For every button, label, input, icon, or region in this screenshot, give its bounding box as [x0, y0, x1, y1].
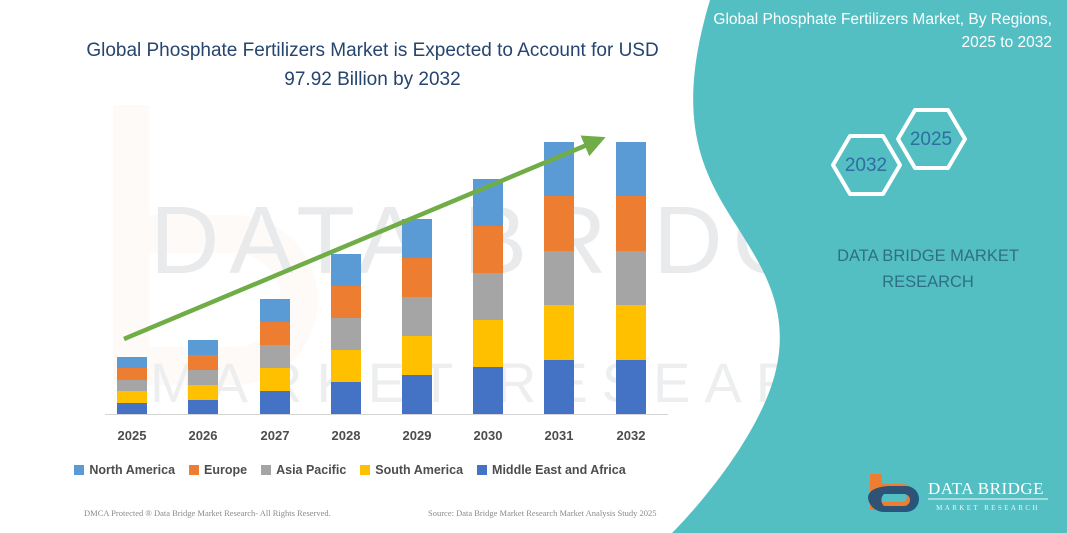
x-axis-labels: 20252026202720282029203020312032 — [0, 428, 700, 448]
legend-item[interactable]: South America — [360, 463, 463, 477]
bar-segment — [473, 226, 503, 273]
logo-tagline: MARKET RESEARCH — [936, 504, 1040, 512]
legend-label: Europe — [204, 463, 247, 477]
bar-segment — [117, 357, 147, 368]
panel-title: Global Phosphate Fertilizers Market, By … — [706, 8, 1052, 54]
x-axis-label: 2025 — [118, 428, 147, 443]
bar-segment — [331, 382, 361, 414]
bar-segment — [473, 367, 503, 414]
legend-item[interactable]: Europe — [189, 463, 247, 477]
panel-brand-text: DATA BRIDGE MARKET RESEARCH — [790, 243, 1066, 295]
hexagon-2025-label: 2025 — [910, 129, 952, 150]
bar-segment — [188, 385, 218, 400]
bar-segment — [402, 258, 432, 297]
bar-segment — [260, 345, 290, 368]
bar-segment — [544, 360, 574, 414]
bar-segment — [117, 391, 147, 403]
legend-swatch — [477, 465, 487, 475]
bar-segment — [260, 368, 290, 391]
bar-segment — [188, 340, 218, 355]
footer-source: Source: Data Bridge Market Research Mark… — [428, 508, 657, 518]
x-axis-label: 2029 — [403, 428, 432, 443]
bar-segment — [402, 375, 432, 414]
legend-label: South America — [375, 463, 463, 477]
bar-segment — [544, 196, 574, 251]
legend-swatch — [74, 465, 84, 475]
legend-item[interactable]: Middle East and Africa — [477, 463, 626, 477]
bar-segment — [544, 251, 574, 305]
bar-segment — [188, 355, 218, 370]
legend-label: North America — [89, 463, 175, 477]
bar-segment — [260, 322, 290, 345]
bar-segment — [188, 400, 218, 414]
logo-wordmark: DATA BRIDGE — [928, 479, 1044, 498]
bar-segment — [331, 254, 361, 286]
bar-segment — [402, 219, 432, 258]
panel-brand-line-2: RESEARCH — [790, 269, 1066, 295]
bar-segment — [544, 305, 574, 360]
legend-label: Middle East and Africa — [492, 463, 626, 477]
x-axis-label: 2031 — [545, 428, 574, 443]
legend-swatch — [189, 465, 199, 475]
bar-segment — [402, 336, 432, 375]
x-axis-label: 2026 — [189, 428, 218, 443]
bar-segment — [117, 403, 147, 414]
x-axis-label: 2028 — [332, 428, 361, 443]
bars-group — [117, 142, 646, 414]
infographic-canvas: DATA BRIDGE MARKET RESEARCH Global Phosp… — [0, 0, 1067, 533]
bar-chart-plot — [0, 0, 700, 470]
bar-segment — [260, 299, 290, 322]
bar-segment — [117, 380, 147, 391]
panel-brand-line-1: DATA BRIDGE MARKET — [790, 243, 1066, 269]
legend-swatch — [360, 465, 370, 475]
legend-label: Asia Pacific — [276, 463, 346, 477]
data-bridge-logo: DATA BRIDGE MARKET RESEARCH — [862, 470, 1052, 518]
bar-segment — [473, 320, 503, 367]
year-hexagons: 2025 2032 — [820, 98, 1000, 208]
bar-segment — [473, 273, 503, 320]
x-axis-label: 2030 — [474, 428, 503, 443]
bar-segment — [331, 350, 361, 382]
bar-segment — [331, 286, 361, 318]
legend-swatch — [261, 465, 271, 475]
hexagon-2032-label: 2032 — [845, 155, 887, 176]
bar-segment — [402, 297, 432, 336]
bar-segment — [188, 370, 218, 385]
bar-segment — [117, 368, 147, 380]
chart-legend: North AmericaEuropeAsia PacificSouth Ame… — [0, 460, 700, 480]
bar-segment — [331, 318, 361, 350]
x-axis-label: 2027 — [261, 428, 290, 443]
legend-item[interactable]: North America — [74, 463, 175, 477]
footer-copyright: DMCA Protected ® Data Bridge Market Rese… — [84, 508, 331, 518]
legend-item[interactable]: Asia Pacific — [261, 463, 346, 477]
bar-segment — [260, 391, 290, 414]
